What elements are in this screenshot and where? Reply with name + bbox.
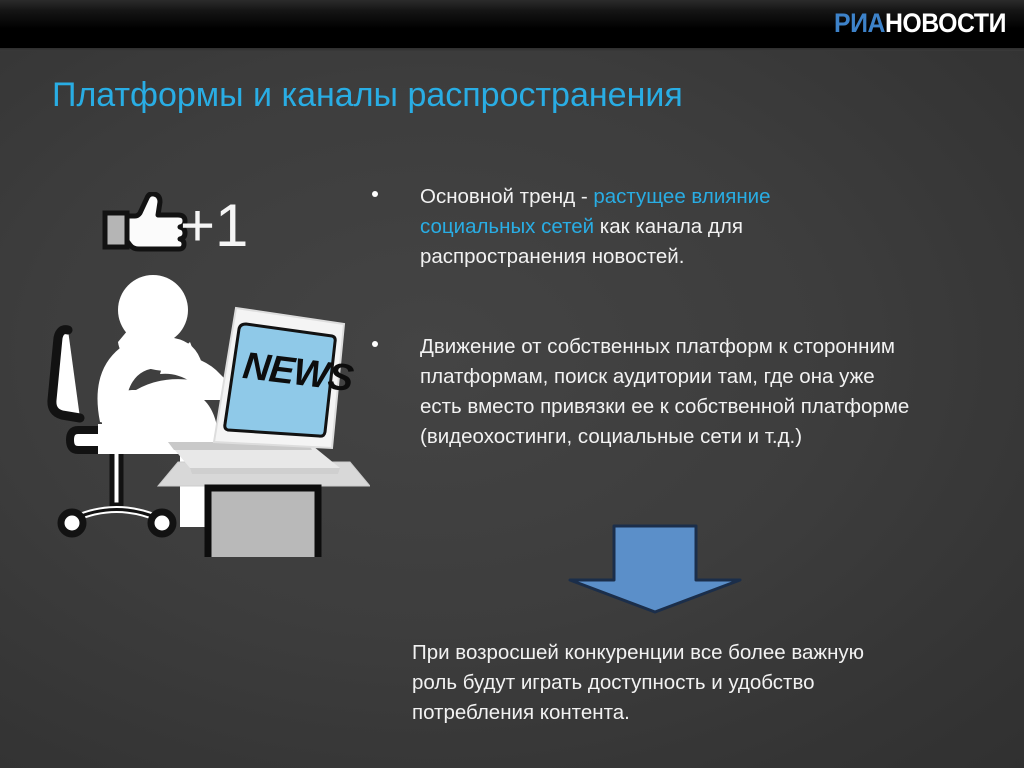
header-separator	[0, 48, 1024, 51]
bullet-dot-icon	[372, 341, 378, 347]
presentation-slide: РИАНОВОСТИ Платформы и каналы распростра…	[0, 0, 1024, 768]
bullet-item-1-text: Основной тренд - растущее влияние социал…	[420, 182, 890, 272]
bullet-item-1: Основной тренд - растущее влияние социал…	[372, 182, 890, 272]
person-at-desk-icon: NEWS	[40, 272, 370, 557]
bullet-item-2-text: Движение от собственных платформ к сторо…	[420, 332, 920, 452]
bullet-dot-icon	[372, 191, 378, 197]
plus-one-label: +1	[180, 196, 248, 256]
bullet-item-2: Движение от собственных платформ к сторо…	[372, 332, 920, 452]
logo-ria-text: РИА	[834, 8, 885, 38]
bullet-1-segment-1: Основной тренд -	[420, 185, 593, 208]
logo-novosti-text: НОВОСТИ	[885, 8, 1006, 38]
page-title: Платформы и каналы распространения	[52, 76, 683, 115]
illustration-group: +1	[40, 186, 370, 556]
ria-novosti-logo: РИАНОВОСТИ	[834, 8, 1006, 38]
down-arrow-icon	[566, 522, 744, 614]
closing-paragraph: При возросшей конкуренции все более важн…	[412, 638, 902, 728]
